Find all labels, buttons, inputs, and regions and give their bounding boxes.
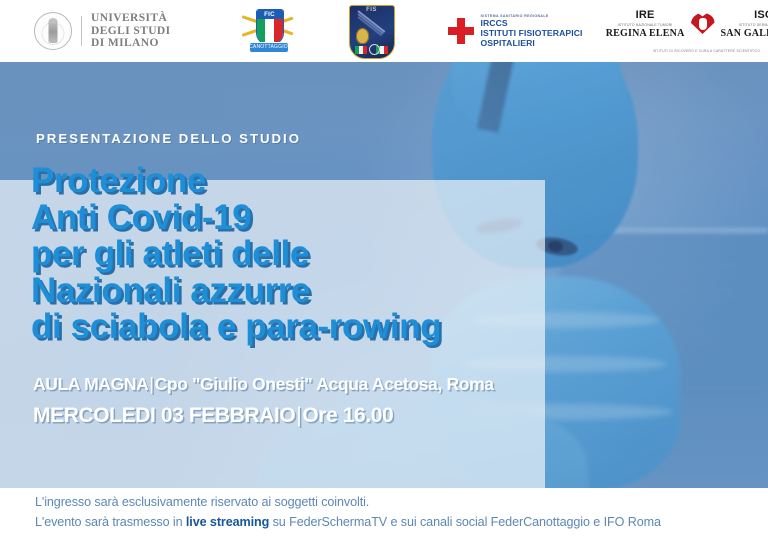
headline-line-4: Nazionali azzurre: [31, 273, 536, 310]
unimi-line-1: UNIVERSITÀ: [91, 12, 171, 25]
unimi-seal-icon: [34, 12, 72, 50]
headline-line-3: per gli atleti delle: [31, 236, 536, 273]
venue-line: AULA MAGNA|Cpo "Giulio Onesti" Acqua Ace…: [33, 374, 494, 395]
red-cross-icon: [448, 18, 474, 44]
shield-icon: FIS: [349, 5, 395, 59]
footer-line-2-prefix: L'evento sarà trasmesso in: [35, 515, 186, 529]
divider: [81, 16, 82, 46]
fic-abbr: FIC: [257, 10, 283, 19]
logo-ire-isg-regina-elena-san-gallicano: IRE ISTITUTO NAZIONALE TUMORI REGINA ELE…: [631, 9, 768, 53]
datetime-line: MERCOLEDI 03 FEBBRAIO|Ore 16.00: [33, 404, 393, 428]
fic-crest-icon: FIC CANOTTAGGIO: [241, 6, 297, 56]
ire-isg-wordmark: IRE ISTITUTO NAZIONALE TUMORI REGINA ELE…: [631, 9, 768, 53]
shield-icon: FIC: [256, 9, 284, 45]
olympic-rings-icon: [369, 44, 380, 55]
unimi-wordmark: UNIVERSITÀ DEGLI STUDI DI MILANO: [91, 12, 171, 50]
event-date: MERCOLEDI 03 FEBBRAIO: [33, 404, 295, 427]
irccs-line-3: OSPITALIERI: [481, 39, 583, 49]
ire-isg-footnote: ISTITUTI DI RICOVERO E CURA A CARATTERE …: [631, 49, 768, 53]
kicker-label: PRESENTAZIONE DELLO STUDIO: [36, 131, 301, 146]
ire-isg-row: IRE ISTITUTO NAZIONALE TUMORI REGINA ELE…: [631, 9, 768, 39]
venue-hall: AULA MAGNA: [33, 374, 148, 394]
venue-place: Cpo "Giulio Onesti" Acqua Acetosa, Roma: [155, 374, 494, 394]
fencing-mask-icon: [356, 28, 369, 44]
isg-block: ISG ISTITUTO DERMATOLOGICO SAN GALLICANO: [721, 9, 768, 39]
event-time: Ore 16.00: [302, 404, 393, 427]
ire-block: IRE ISTITUTO NAZIONALE TUMORI REGINA ELE…: [606, 9, 685, 39]
footer-notes: L'ingresso sarà esclusivamente riservato…: [0, 488, 768, 545]
logo-federazione-italiana-canottaggio: FIC CANOTTAGGIO: [241, 6, 297, 56]
headline-line-1: Protezione: [31, 163, 536, 200]
live-streaming-emphasis: live streaming: [186, 515, 269, 529]
poster: UNIVERSITÀ DEGLI STUDI DI MILANO FIC CAN…: [0, 0, 768, 545]
footer-line-1: L'ingresso sarà esclusivamente riservato…: [35, 495, 369, 509]
italian-flag-bands: [257, 19, 283, 44]
isg-abbr: ISG: [754, 9, 768, 21]
isg-name: SAN GALLICANO: [721, 28, 768, 39]
italian-flag-icon: [355, 46, 368, 54]
ire-subtitle: ISTITUTO NAZIONALE TUMORI: [618, 23, 673, 27]
heart-icon: [689, 10, 717, 36]
logo-federazione-italiana-scherma: FIS: [349, 5, 393, 57]
footer-line-2-suffix: su FederSchermaTV e sui canali social Fe…: [269, 515, 661, 529]
logo-universita-degli-studi-di-milano: UNIVERSITÀ DEGLI STUDI DI MILANO: [34, 12, 171, 50]
headline-line-2: Anti Covid-19: [31, 200, 536, 237]
isg-subtitle: ISTITUTO DERMATOLOGICO: [739, 23, 768, 27]
footer-line-2: L'evento sarà trasmesso in live streamin…: [35, 515, 661, 529]
page-title: Protezione Anti Covid-19 per gli atleti …: [31, 163, 536, 346]
unimi-line-3: DI MILANO: [91, 37, 171, 50]
fis-crest-icon: FIS: [349, 5, 393, 57]
fic-ribbon-label: CANOTTAGGIO: [249, 42, 289, 53]
unimi-line-2: DEGLI STUDI: [91, 25, 171, 38]
fis-abbr: FIS: [350, 7, 394, 13]
ire-abbr: IRE: [636, 9, 655, 21]
logo-irccs-istituti-fisioterapici-ospitalieri: SISTEMA SANITARIO REGIONALE IRCCS ISTITU…: [448, 14, 583, 48]
irccs-wordmark: SISTEMA SANITARIO REGIONALE IRCCS ISTITU…: [481, 14, 583, 48]
headline-line-5: di sciabola e para-rowing: [31, 309, 536, 346]
irccs-supertitle: SISTEMA SANITARIO REGIONALE: [481, 14, 583, 18]
sponsor-logo-bar: UNIVERSITÀ DEGLI STUDI DI MILANO FIC CAN…: [0, 0, 768, 62]
ire-name: REGINA ELENA: [606, 28, 685, 39]
